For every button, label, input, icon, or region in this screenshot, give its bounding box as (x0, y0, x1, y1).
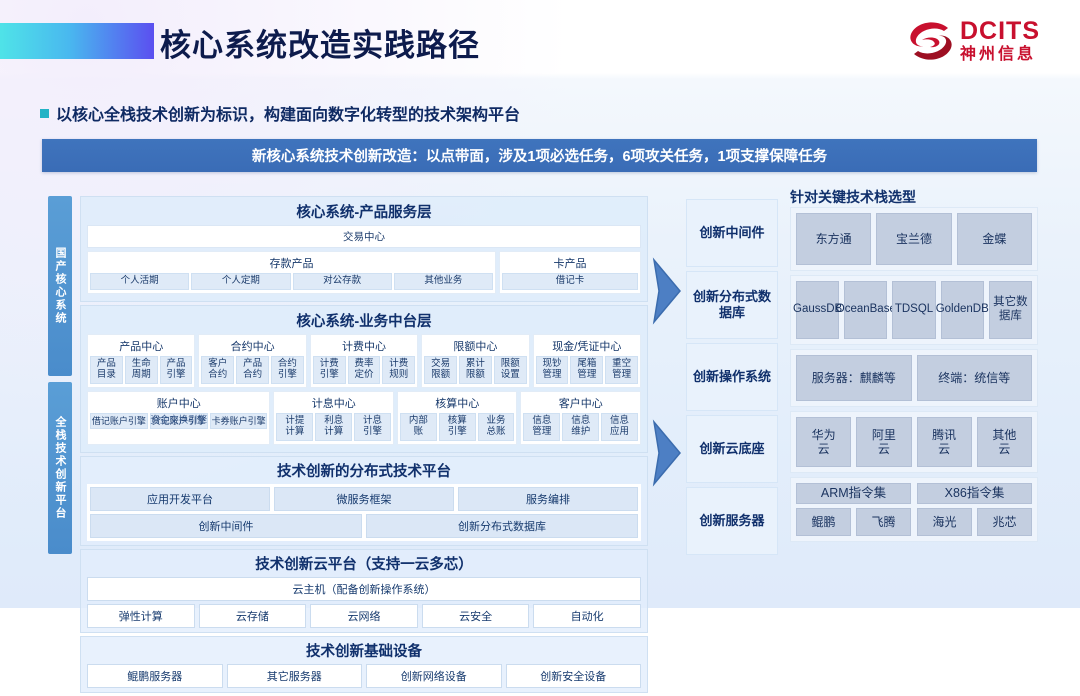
center-item[interactable]: 计息引擎 (354, 413, 391, 441)
cloud-item[interactable]: 弹性计算 (87, 604, 195, 628)
innovation-target-column: 创新中间件创新分布式数据库创新操作系统创新云底座创新服务器 (686, 199, 778, 559)
architecture-left-panel: 国产核心系统 全栈技术创新平台 核心系统-产品服务层 交易中心 存款产品 个人活… (48, 196, 648, 554)
center-item[interactable]: 计费引擎 (313, 356, 346, 384)
layer-title: 技术创新的分布式技术平台 (81, 458, 647, 484)
dist-box: 应用开发平台 微服务框架 服务编排 创新中间件 创新分布式数据库 (87, 484, 641, 541)
flow-arrow-icon (650, 248, 688, 334)
infra-item[interactable]: 创新网络设备 (366, 664, 502, 688)
middleware-option[interactable]: 金蝶 (957, 213, 1032, 265)
group-label: 卡产品 (502, 254, 638, 273)
trade-center-row: 交易中心 (81, 225, 647, 251)
cloud-row: 华为云阿里云腾讯云其他云 (796, 417, 1032, 467)
banner-text: 新核心系统技术创新改造：以点带面，涉及1项必选任务，6项攻关任务，1项支撑保障任… (252, 145, 827, 166)
dist-item[interactable]: 创新中间件 (90, 514, 362, 538)
chip-option[interactable]: 兆芯 (977, 508, 1032, 536)
database-option[interactable]: TDSQL (892, 281, 935, 339)
layer-cloud-platform: 技术创新云平台（支持一云多芯） 云主机（配备创新操作系统） 弹性计算云存储云网络… (80, 549, 648, 633)
group-items: 借记卡 (502, 273, 638, 290)
dist-item[interactable]: 创新分布式数据库 (366, 514, 638, 538)
center-item[interactable]: 信息应用 (601, 413, 638, 441)
center-item[interactable]: 计提计算 (276, 413, 313, 441)
center-label: 产品中心 (90, 337, 192, 356)
layer-title: 核心系统-产品服务层 (81, 199, 647, 225)
page-title: 核心系统改造实践路径 (160, 20, 480, 65)
innovation-target-box[interactable]: 创新分布式数据库 (686, 271, 778, 339)
cloud-item[interactable]: 自动化 (533, 604, 641, 628)
business-center: 核算中心内部账核算引擎业务总账 (397, 391, 518, 445)
trade-center-cell: 交易中心 (87, 225, 641, 248)
business-center: 计息中心计提计算利息计算计息引擎 (273, 391, 394, 445)
dist-item[interactable]: 应用开发平台 (90, 487, 270, 511)
isa-group: ARM指令集鲲鹏飞腾X86指令集海光兆芯 (790, 477, 1038, 542)
infra-item[interactable]: 创新安全设备 (506, 664, 642, 688)
innovation-target-box[interactable]: 创新云底座 (686, 415, 778, 483)
dist-item[interactable]: 服务编排 (458, 487, 638, 511)
os-option[interactable]: 终端：统信等 (917, 355, 1033, 401)
cloud-item[interactable]: 云存储 (199, 604, 307, 628)
layer-business-middle: 核心系统-业务中台层 产品中心产品目录生命周期产品引擎合约中心客户合约产品合约合… (80, 305, 648, 453)
layer-title: 技术创新云平台（支持一云多芯） (81, 551, 647, 577)
center-item[interactable]: 交易限额 (424, 356, 457, 384)
side-tab-core-system: 国产核心系统 (48, 196, 72, 376)
product-groups-row: 存款产品 个人活期 个人定期 对公存款 其他业务 卡产品 借记卡 (81, 251, 647, 297)
infra-item[interactable]: 其它服务器 (227, 664, 363, 688)
center-item[interactable]: 尾箱管理 (570, 356, 603, 384)
isa-column: ARM指令集鲲鹏飞腾 (796, 483, 911, 536)
right-panel-caption: 针对关键技术栈选型 (790, 187, 916, 207)
center-items: 产品目录生命周期产品引擎 (90, 356, 192, 384)
center-item[interactable]: 现钞管理 (536, 356, 569, 384)
dist-row-2: 创新中间件 创新分布式数据库 (90, 514, 638, 538)
chip-option[interactable]: 鲲鹏 (796, 508, 851, 536)
os-group: 服务器：麒麟等终端：统信等 (790, 349, 1038, 407)
isa-column: X86指令集海光兆芯 (917, 483, 1032, 536)
innovation-target-box[interactable]: 创新操作系统 (686, 343, 778, 411)
center-label: 计费中心 (313, 337, 415, 356)
center-item[interactable]: 产品引擎 (160, 356, 193, 384)
product-item[interactable]: 对公存款 (293, 273, 392, 290)
side-tab-fullstack-platform: 全栈技术创新平台 (48, 382, 72, 554)
product-item[interactable]: 个人定期 (191, 273, 290, 290)
cloud-item[interactable]: 云安全 (422, 604, 530, 628)
slide-header: 核心系统改造实践路径 DCITS 神州信息 (0, 0, 1080, 82)
cloud-item[interactable]: 云网络 (310, 604, 418, 628)
business-center-row-1: 产品中心产品目录生命周期产品引擎合约中心客户合约产品合约合约引擎计费中心计费引擎… (81, 334, 647, 391)
isa-chips: 鲲鹏飞腾 (796, 508, 911, 536)
cloud-option[interactable]: 华为云 (796, 417, 851, 467)
center-label: 限额中心 (424, 337, 526, 356)
business-center-row-2: 账户中心借记账户引擎贷记账户引擎卡券账户引擎资金交换引擎计息中心计提计算利息计算… (81, 391, 647, 448)
center-items: 借记账户引擎贷记账户引擎卡券账户引擎资金交换引擎 (90, 413, 267, 429)
business-center: 客户中心信息管理信息维护信息应用 (520, 391, 641, 445)
business-center: 合约中心客户合约产品合约合约引擎 (198, 334, 306, 388)
center-items: 计提计算利息计算计息引擎 (276, 413, 391, 441)
center-items: 信息管理信息维护信息应用 (523, 413, 638, 441)
business-center: 现金/凭证中心现钞管理尾箱管理重空管理 (533, 334, 641, 388)
center-overlay-label: 资金交换引擎 (150, 412, 207, 426)
product-item[interactable]: 其他业务 (394, 273, 493, 290)
dist-row-1: 应用开发平台 微服务框架 服务编排 (90, 487, 638, 511)
center-items: 现钞管理尾箱管理重空管理 (536, 356, 638, 384)
middleware-row: 东方通宝兰德金蝶 (796, 213, 1032, 265)
layer-title: 核心系统-业务中台层 (81, 308, 647, 334)
center-items: 交易限额累计限额限额设置 (424, 356, 526, 384)
middleware-option[interactable]: 宝兰德 (876, 213, 951, 265)
flow-arrow-icon (650, 410, 688, 496)
middleware-option[interactable]: 东方通 (796, 213, 871, 265)
chip-option[interactable]: 飞腾 (856, 508, 911, 536)
section-subtitle: 以核心全栈技术创新为标识，构建面向数字化转型的技术架构平台 (40, 101, 520, 125)
isa-name[interactable]: ARM指令集 (796, 483, 911, 504)
center-item[interactable]: 客户合约 (201, 356, 234, 384)
center-item[interactable]: 信息管理 (523, 413, 560, 441)
center-label: 合约中心 (201, 337, 303, 356)
layer-distributed-platform: 技术创新的分布式技术平台 应用开发平台 微服务框架 服务编排 创新中间件 创新分… (80, 456, 648, 546)
center-item[interactable]: 生命周期 (125, 356, 158, 384)
center-items: 内部账核算引擎业务总账 (400, 413, 515, 441)
group-deposit-products: 存款产品 个人活期 个人定期 对公存款 其他业务 (87, 251, 496, 294)
cloud-option[interactable]: 腾讯云 (917, 417, 972, 467)
center-label: 账户中心 (90, 394, 267, 413)
cloud-option[interactable]: 阿里云 (856, 417, 911, 467)
center-item[interactable]: 卡券账户引擎 (210, 413, 268, 429)
center-item[interactable]: 计费规则 (382, 356, 415, 384)
header-accent-bar (0, 23, 154, 59)
center-item[interactable]: 业务总账 (478, 413, 515, 441)
cloud-option[interactable]: 其他云 (977, 417, 1032, 467)
cloud-box: 云主机（配备创新操作系统） 弹性计算云存储云网络云安全自动化 (87, 577, 641, 628)
subtitle-text: 以核心全栈技术创新为标识，构建面向数字化转型的技术架构平台 (56, 101, 520, 125)
highlight-banner: 新核心系统技术创新改造：以点带面，涉及1项必选任务，6项攻关任务，1项支撑保障任… (42, 139, 1037, 172)
product-item[interactable]: 借记卡 (502, 273, 638, 290)
layer-infrastructure: 技术创新基础设备 鲲鹏服务器其它服务器创新网络设备创新安全设备 (80, 636, 648, 693)
database-option[interactable]: GoldenDB (941, 281, 984, 339)
product-item[interactable]: 个人活期 (90, 273, 189, 290)
isa-chips: 海光兆芯 (917, 508, 1032, 536)
center-label: 计息中心 (276, 394, 391, 413)
layer-stack: 核心系统-产品服务层 交易中心 存款产品 个人活期 个人定期 对公存款 其他业务 (80, 196, 648, 696)
center-item[interactable]: 重空管理 (605, 356, 638, 384)
center-item[interactable]: 合约引擎 (271, 356, 304, 384)
logo-cn: 神州信息 (960, 47, 1040, 63)
database-option[interactable]: OceanBase (844, 281, 887, 339)
database-row: GaussDBOceanBaseTDSQLGoldenDB其它数据库 (796, 281, 1032, 339)
center-item[interactable]: 内部账 (400, 413, 437, 441)
dist-item[interactable]: 微服务框架 (274, 487, 454, 511)
group-items: 个人活期 个人定期 对公存款 其他业务 (90, 273, 493, 290)
group-card-products: 卡产品 借记卡 (499, 251, 641, 294)
center-label: 核算中心 (400, 394, 515, 413)
slide-canvas: 核心系统改造实践路径 DCITS 神州信息 以核心全栈技术创新为标识，构建面向数… (0, 0, 1080, 608)
center-item[interactable]: 利息计算 (315, 413, 352, 441)
business-center: 账户中心借记账户引擎贷记账户引擎卡券账户引擎资金交换引擎 (87, 391, 270, 445)
layer-title: 技术创新基础设备 (81, 638, 647, 664)
infra-box: 鲲鹏服务器其它服务器创新网络设备创新安全设备 (87, 664, 641, 688)
database-option[interactable]: 其它数据库 (989, 281, 1032, 339)
center-label: 现金/凭证中心 (536, 337, 638, 356)
center-item[interactable]: 信息维护 (562, 413, 599, 441)
center-item[interactable]: 核算引擎 (439, 413, 476, 441)
infra-item[interactable]: 鲲鹏服务器 (87, 664, 223, 688)
os-option[interactable]: 服务器：麒麟等 (796, 355, 912, 401)
isa-name[interactable]: X86指令集 (917, 483, 1032, 504)
os-row: 服务器：麒麟等终端：统信等 (796, 355, 1032, 401)
center-item[interactable]: 累计限额 (459, 356, 492, 384)
database-option[interactable]: GaussDB (796, 281, 839, 339)
logo-en: DCITS (960, 19, 1040, 44)
center-item[interactable]: 产品合约 (236, 356, 269, 384)
innovation-target-box[interactable]: 创新服务器 (686, 487, 778, 555)
cloud-host-item[interactable]: 云主机（配备创新操作系统） (87, 577, 641, 601)
bullet-square-icon (40, 109, 49, 118)
cloud-group: 华为云阿里云腾讯云其他云 (790, 411, 1038, 473)
center-items: 客户合约产品合约合约引擎 (201, 356, 303, 384)
center-item[interactable]: 费率定价 (348, 356, 381, 384)
dcits-swirl-icon (908, 20, 954, 62)
logo-wordmark: DCITS 神州信息 (960, 19, 1040, 63)
innovation-target-box[interactable]: 创新中间件 (686, 199, 778, 267)
center-item[interactable]: 限额设置 (494, 356, 527, 384)
database-group: GaussDBOceanBaseTDSQLGoldenDB其它数据库 (790, 275, 1038, 345)
center-item[interactable]: 产品目录 (90, 356, 123, 384)
center-items: 计费引擎费率定价计费规则 (313, 356, 415, 384)
business-center: 限额中心交易限额累计限额限额设置 (421, 334, 529, 388)
isa-row: ARM指令集鲲鹏飞腾X86指令集海光兆芯 (796, 483, 1032, 536)
brand-logo: DCITS 神州信息 (908, 18, 1040, 64)
group-label: 存款产品 (90, 254, 493, 273)
business-center: 计费中心计费引擎费率定价计费规则 (310, 334, 418, 388)
business-center: 产品中心产品目录生命周期产品引擎 (87, 334, 195, 388)
infra-items-row: 鲲鹏服务器其它服务器创新网络设备创新安全设备 (87, 664, 641, 688)
chip-option[interactable]: 海光 (917, 508, 972, 536)
tech-stack-selection-panel: 东方通宝兰德金蝶 GaussDBOceanBaseTDSQLGoldenDB其它… (790, 207, 1038, 546)
center-item[interactable]: 借记账户引擎 (90, 413, 148, 429)
cloud-host-row: 云主机（配备创新操作系统） (87, 577, 641, 601)
cloud-items-row: 弹性计算云存储云网络云安全自动化 (87, 604, 641, 628)
middleware-group: 东方通宝兰德金蝶 (790, 207, 1038, 271)
center-label: 客户中心 (523, 394, 638, 413)
layer-product-service: 核心系统-产品服务层 交易中心 存款产品 个人活期 个人定期 对公存款 其他业务 (80, 196, 648, 302)
